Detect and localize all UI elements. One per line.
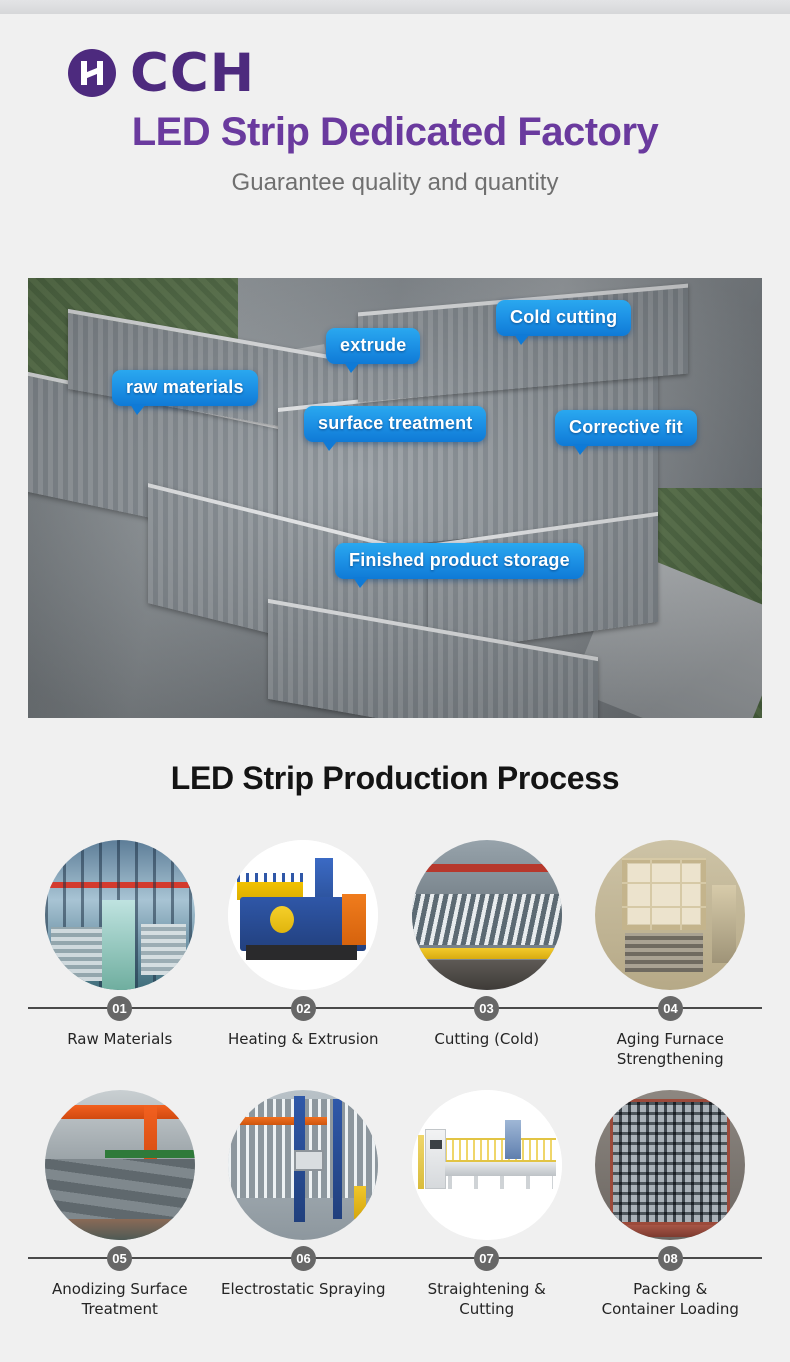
process-step-caption-08: Packing &Container Loading: [579, 1279, 763, 1320]
brand-logo[interactable]: CCH: [0, 14, 790, 88]
top-browser-bar: [0, 0, 790, 14]
process-thumbnails-row: [28, 840, 762, 990]
process-step-caption-07: Straightening &Cutting: [395, 1279, 579, 1320]
process-step-image-07: [412, 1090, 562, 1240]
process-step-07[interactable]: [395, 1090, 579, 1240]
axis-line: [28, 1257, 762, 1259]
process-step-image-05: [45, 1090, 195, 1240]
process-step-02[interactable]: [212, 840, 396, 990]
hero-label-surface-treatment: surface treatment: [304, 406, 486, 442]
process-step-caption-01: Raw Materials: [28, 1029, 212, 1070]
process-step-number-06: 06: [291, 1246, 316, 1271]
page-header: CCH LED Strip Dedicated Factory Guarante…: [0, 14, 790, 197]
process-step-number-02: 02: [291, 996, 316, 1021]
process-row-2: 05 06 07 08 Anodizing SurfaceTreatment E…: [28, 1090, 762, 1320]
process-step-caption-02: Heating & Extrusion: [212, 1029, 396, 1070]
process-step-04[interactable]: [579, 840, 763, 990]
process-step-number-07: 07: [474, 1246, 499, 1271]
process-captions-row-1: Raw Materials Heating & Extrusion Cuttin…: [28, 1029, 762, 1070]
process-axis-1: 01 02 03 04: [28, 996, 762, 1020]
process-thumbnails-row: [28, 1090, 762, 1240]
page-title: LED Strip Dedicated Factory: [0, 110, 790, 155]
process-step-image-06: [228, 1090, 378, 1240]
process-step-image-08: [595, 1090, 745, 1240]
section-title-production-process: LED Strip Production Process: [0, 760, 790, 797]
process-step-01[interactable]: [28, 840, 212, 990]
process-step-number-03: 03: [474, 996, 499, 1021]
process-step-image-01: [45, 840, 195, 990]
cch-circle-h-logo-icon: [68, 49, 116, 97]
process-step-image-02: [228, 840, 378, 990]
brand-logo-text: CCH: [130, 47, 255, 100]
process-step-caption-05: Anodizing SurfaceTreatment: [28, 1279, 212, 1320]
process-step-image-03: [412, 840, 562, 990]
process-step-08[interactable]: [579, 1090, 763, 1240]
process-step-06[interactable]: [212, 1090, 396, 1240]
axis-line: [28, 1007, 762, 1009]
hero-factory-photo: raw materials extrude Cold cutting surfa…: [28, 278, 762, 718]
hero-label-finished-storage: Finished product storage: [335, 543, 584, 579]
process-step-05[interactable]: [28, 1090, 212, 1240]
process-step-number-04: 04: [658, 996, 683, 1021]
page-subtitle: Guarantee quality and quantity: [0, 169, 790, 197]
process-row-1: 01 02 03 04 Raw Materials Heating & Extr…: [28, 840, 762, 1070]
process-captions-row-2: Anodizing SurfaceTreatment Electrostatic…: [28, 1279, 762, 1320]
process-step-caption-03: Cutting (Cold): [395, 1029, 579, 1070]
hero-label-raw-materials: raw materials: [112, 370, 258, 406]
process-axis-2: 05 06 07 08: [28, 1246, 762, 1270]
hero-label-extrude: extrude: [326, 328, 420, 364]
process-step-image-04: [595, 840, 745, 990]
process-step-03[interactable]: [395, 840, 579, 990]
process-step-number-05: 05: [107, 1246, 132, 1271]
process-step-number-01: 01: [107, 996, 132, 1021]
process-step-caption-06: Electrostatic Spraying: [212, 1279, 396, 1320]
hero-label-cold-cutting: Cold cutting: [496, 300, 631, 336]
process-step-caption-04: Aging FurnaceStrengthening: [579, 1029, 763, 1070]
hero-label-corrective-fit: Corrective fit: [555, 410, 697, 446]
process-step-number-08: 08: [658, 1246, 683, 1271]
